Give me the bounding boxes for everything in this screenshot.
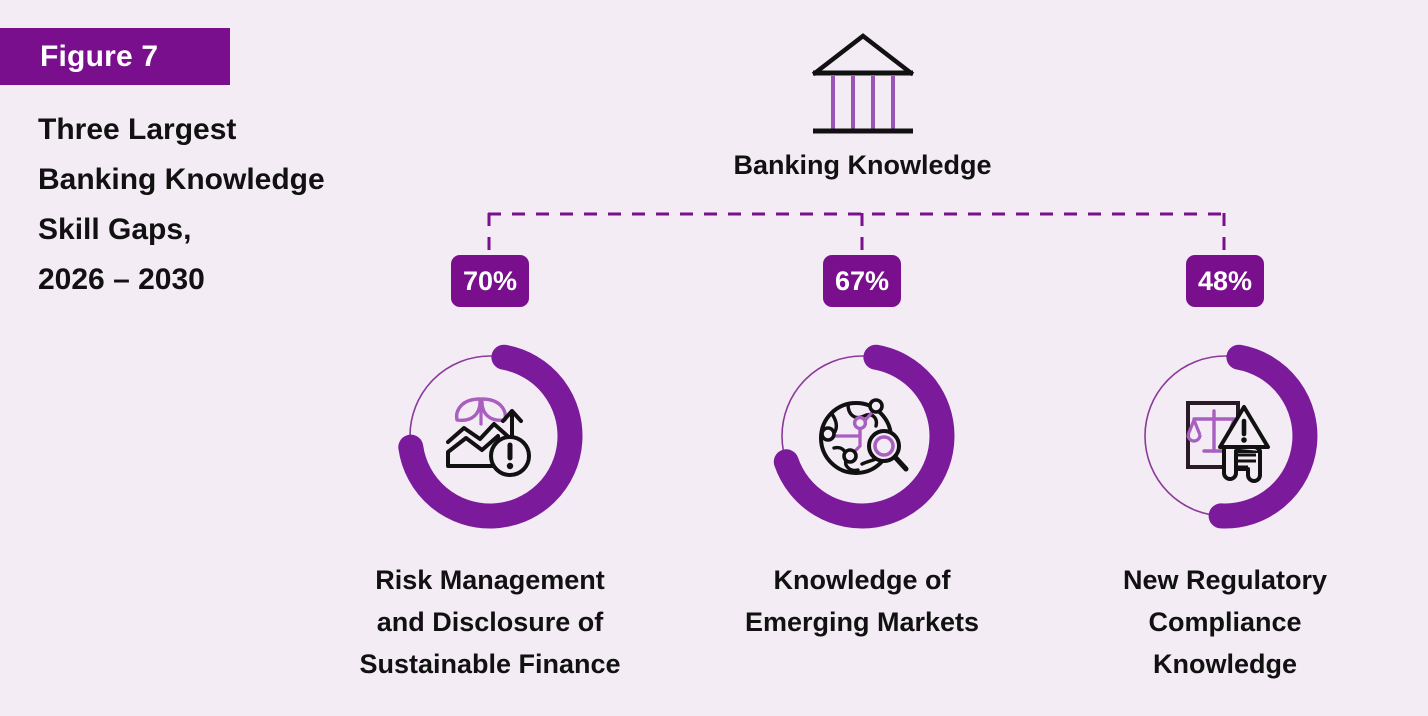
donut-chart-2: [761, 335, 963, 537]
donut-chart-1: [389, 335, 591, 537]
skill-gap-column-3: 48%: [1060, 255, 1390, 685]
skill-gap-label-3: New Regulatory Compliance Knowledge: [1123, 559, 1327, 685]
top-node-label: Banking Knowledge: [600, 150, 1125, 181]
skill-gap-column-1: 70%: [325, 255, 655, 685]
skill-gap-label-2: Knowledge of Emerging Markets: [745, 559, 979, 643]
percent-badge: 67%: [823, 255, 901, 307]
percent-badge: 70%: [451, 255, 529, 307]
top-node: Banking Knowledge: [600, 26, 1125, 181]
figure-number-badge: Figure 7: [0, 28, 230, 85]
figure-number-label: Figure 7: [0, 40, 158, 74]
percent-badge: 48%: [1186, 255, 1264, 307]
globe-network-magnifier-icon: [761, 335, 963, 537]
sustainable-growth-chart-icon: [389, 335, 591, 537]
legal-compliance-document-icon: [1124, 335, 1326, 537]
skill-gap-column-2: 67%: [697, 255, 1027, 643]
donut-chart-3: [1124, 335, 1326, 537]
figure-root: Figure 7 Three Largest Banking Knowledge…: [0, 0, 1428, 716]
bank-icon: [600, 26, 1125, 144]
skill-gap-label-1: Risk Management and Disclosure of Sustai…: [359, 559, 620, 685]
